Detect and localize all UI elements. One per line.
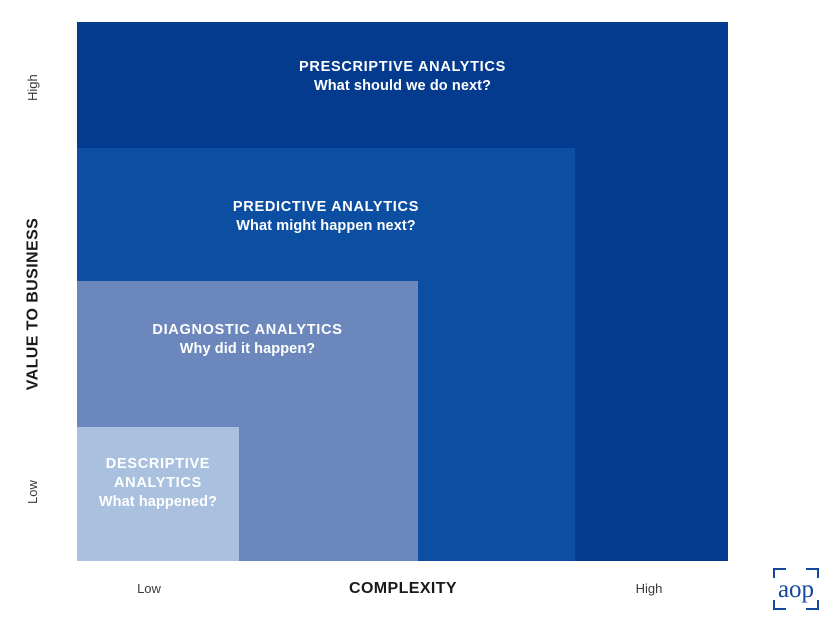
band-diagnostic-title: DIAGNOSTIC ANALYTICS [77,321,418,340]
band-predictive-title: PREDICTIVE ANALYTICS [77,198,575,217]
band-diagnostic-text: DIAGNOSTIC ANALYTICS Why did it happen? [77,321,418,359]
x-axis-tick-high: High [612,581,686,596]
analytics-maturity-diagram: PRESCRIPTIVE ANALYTICS What should we do… [0,0,836,627]
aop-logo[interactable]: aop [772,567,820,611]
band-diagnostic-question: Why did it happen? [77,340,418,359]
band-prescriptive-question: What should we do next? [77,77,728,96]
band-descriptive-title-line2: ANALYTICS [77,474,239,493]
band-prescriptive-text: PRESCRIPTIVE ANALYTICS What should we do… [77,58,728,96]
x-axis-tick-low: Low [112,581,186,596]
band-predictive-question: What might happen next? [77,217,575,236]
y-axis-tick-high: High [22,63,44,113]
plot-area: PRESCRIPTIVE ANALYTICS What should we do… [77,22,728,561]
aop-bracket-logo-icon: aop [772,567,820,611]
y-axis-tick-low: Low [22,468,44,516]
band-descriptive-question: What happened? [77,493,239,512]
svg-text:aop: aop [778,576,814,603]
band-descriptive-title-line1: DESCRIPTIVE [77,455,239,474]
band-descriptive-text: DESCRIPTIVE ANALYTICS What happened? [77,455,239,512]
band-prescriptive-title: PRESCRIPTIVE ANALYTICS [77,58,728,77]
band-descriptive-analytics[interactable]: DESCRIPTIVE ANALYTICS What happened? [77,427,239,561]
band-predictive-text: PREDICTIVE ANALYTICS What might happen n… [77,198,575,236]
x-axis-title: COMPLEXITY [268,580,538,598]
